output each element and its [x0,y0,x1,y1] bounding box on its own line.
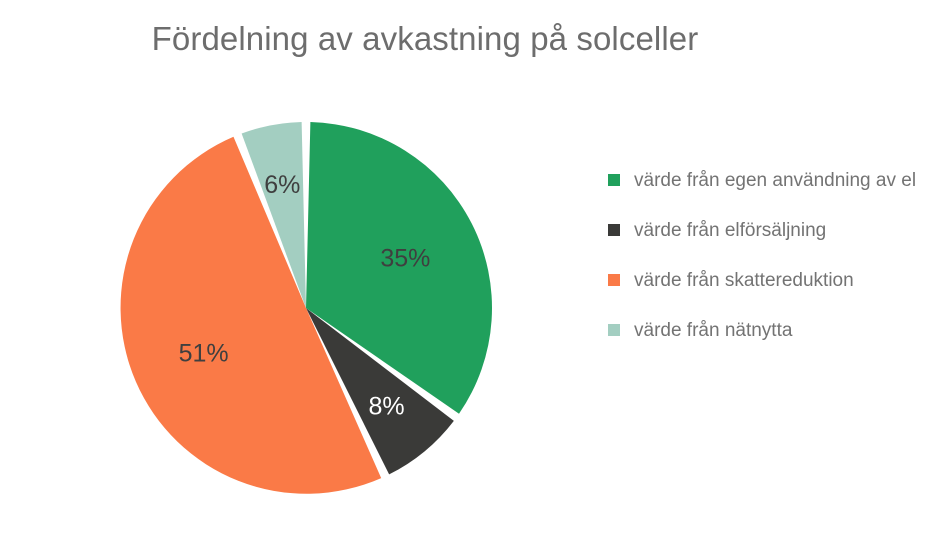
legend-swatch-icon [608,274,620,286]
chart-title: Fördelning av avkastning på solceller [0,20,850,58]
legend-item-egen-anvandning[interactable]: värde från egen användning av el [608,168,918,194]
pie-slices-group [121,122,492,494]
legend-item-natnytta[interactable]: värde från nätnytta [608,318,918,344]
legend-item-label: värde från nätnytta [634,318,792,344]
legend-item-label: värde från egen användning av el [634,168,916,194]
pie-label-elforsaljning: 8% [369,393,405,421]
legend-swatch-icon [608,174,620,186]
chart-legend: värde från egen användning av elvärde fr… [608,168,918,344]
pie-label-skattereduktion: 51% [179,339,229,367]
pie-plot-area: 35%8%51%6% [120,122,492,494]
legend-item-skattereduktion[interactable]: värde från skattereduktion [608,268,918,294]
legend-item-label: värde från skattereduktion [634,268,854,294]
legend-swatch-icon [608,324,620,336]
pie-svg: 35%8%51%6% [120,122,492,494]
pie-label-egen-anvandning: 35% [380,244,430,272]
legend-item-elforsaljning[interactable]: värde från elförsäljning [608,218,918,244]
legend-swatch-icon [608,224,620,236]
pie-label-natnytta: 6% [264,171,300,199]
pie-chart-figure: Fördelning av avkastning på solceller 35… [0,0,925,550]
legend-item-label: värde från elförsäljning [634,218,826,244]
